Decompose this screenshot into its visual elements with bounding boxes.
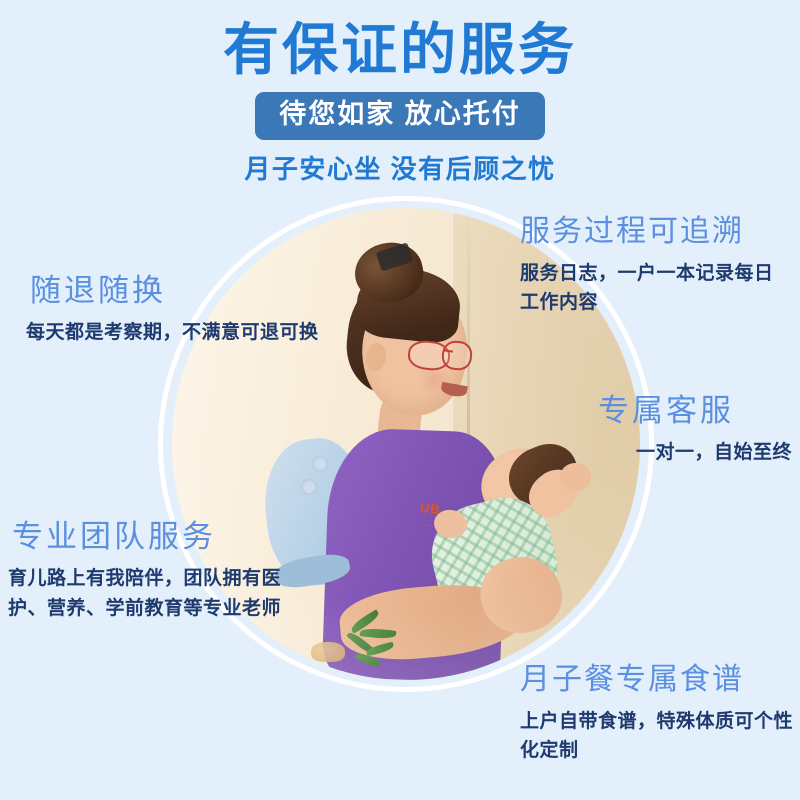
baby-fist	[560, 463, 590, 491]
poster-canvas: 有保证的服务 待您如家 放心托付 月子安心坐 没有后顾之忧	[0, 0, 800, 800]
feature-service-body: 一对一，自始至终	[592, 438, 792, 467]
feature-team-body: 育儿路上有我陪伴，团队拥有医护、营养、学前教育等专业老师	[8, 564, 308, 623]
feature-team-title: 专业团队服务	[12, 518, 308, 555]
leaf-icon	[360, 627, 396, 640]
feature-meal-title: 月子餐专属食谱	[520, 662, 796, 698]
feature-exchange-body: 每天都是考察期，不满意可退可换	[26, 318, 322, 347]
feature-service: 专属客服 一对一，自始至终	[592, 392, 792, 468]
basket-decoration	[311, 642, 345, 662]
plant-decoration	[317, 609, 411, 680]
feature-exchange-title: 随退随换	[30, 272, 322, 309]
status-badge: 待您如家 放心托付	[255, 92, 545, 139]
feature-meal: 月子餐专属食谱 上户自带食谱，特殊体质可个性化定制	[520, 662, 796, 766]
feature-meal-body: 上户自带食谱，特殊体质可个性化定制	[520, 707, 796, 766]
badge-container: 待您如家 放心托付	[0, 92, 800, 139]
feature-trace-title: 服务过程可追溯	[520, 214, 792, 250]
tagline: 月子安心坐 没有后顾之忧	[0, 154, 800, 185]
poster-header: 有保证的服务 待您如家 放心托付 月子安心坐 没有后顾之忧	[0, 0, 800, 185]
uniform-button	[301, 479, 317, 495]
feature-exchange: 随退随换 每天都是考察期，不满意可退可换	[22, 272, 322, 348]
page-title: 有保证的服务	[0, 0, 800, 80]
feature-trace-body: 服务日志，一户一本记录每日工作内容	[520, 259, 792, 318]
feature-trace: 服务过程可追溯 服务日志，一户一本记录每日工作内容	[520, 214, 792, 318]
feature-service-title: 专属客服	[592, 392, 792, 429]
feature-team: 专业团队服务 育儿路上有我陪伴，团队拥有医护、营养、学前教育等专业老师	[8, 518, 308, 623]
